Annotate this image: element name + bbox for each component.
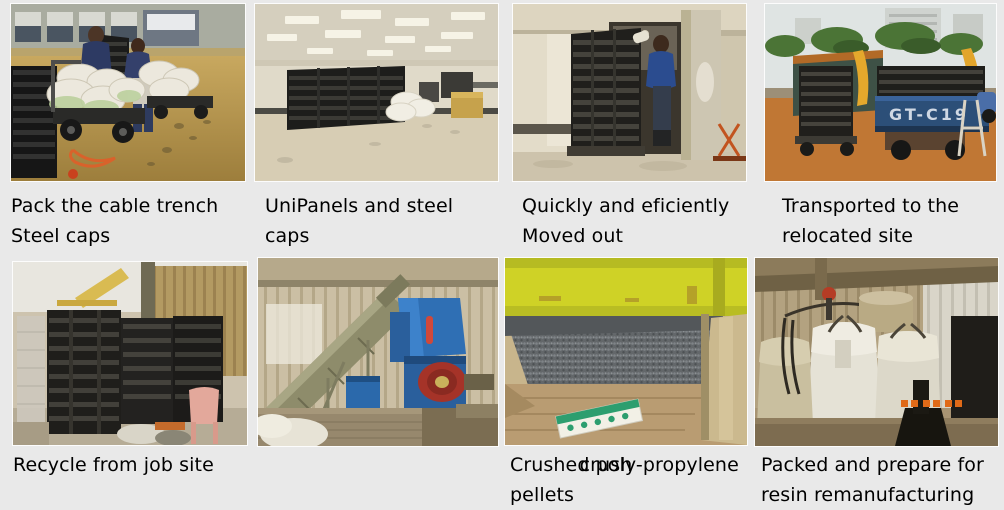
- photo-packed-resin[interactable]: [755, 258, 998, 446]
- packed-resin-illustration: [755, 258, 998, 446]
- caption-pack-cable-trench: Pack the cable trench Steel caps: [11, 191, 249, 251]
- photo-transported[interactable]: GT-C19: [765, 4, 996, 181]
- photo-crush[interactable]: [258, 258, 498, 446]
- storyboard-cell-6[interactable]: crush: [251, 252, 502, 505]
- crushed-pellets-illustration: [505, 258, 747, 445]
- photo-moved-out[interactable]: [513, 4, 746, 181]
- storyboard-cell-4[interactable]: GT-C19 Transported to the relocated site: [753, 0, 1004, 252]
- storyboard-cell-1[interactable]: Pack the cable trench Steel caps: [0, 0, 251, 252]
- photo-crushed-pellets[interactable]: [505, 258, 747, 445]
- transported-illustration: GT-C19: [765, 4, 996, 181]
- svg-text:GT-C19: GT-C19: [889, 105, 969, 124]
- photo-recycle-job-site[interactable]: [13, 262, 247, 445]
- photo-unipanels-packed[interactable]: [255, 4, 498, 181]
- storyboard-cell-8[interactable]: Packed and prepare for resin remanufactu…: [753, 252, 1004, 505]
- unipanels-packed-illustration: [255, 4, 498, 181]
- moved-out-illustration: [513, 4, 746, 181]
- caption-moved-out: Quickly and eficiently Moved out: [522, 191, 760, 251]
- photo-storyboard: Pack the cable trench Steel caps: [0, 0, 1004, 505]
- caption-recycle-job-site: Recycle from job site: [13, 450, 251, 480]
- storyboard-cell-3[interactable]: Quickly and eficiently Moved out: [502, 0, 753, 252]
- caption-transported: Transported to the relocated site: [782, 191, 1004, 251]
- storyboard-cell-7[interactable]: Crushed poly-propylene pellets: [502, 252, 753, 505]
- storyboard-cell-5[interactable]: Recycle from job site: [0, 252, 251, 505]
- storyboard-cell-2[interactable]: UniPanels and steel caps Were packed: [251, 0, 502, 252]
- recycle-job-site-illustration: [13, 262, 247, 445]
- caption-packed-resin: Packed and prepare for resin remanufactu…: [761, 450, 1003, 510]
- pack-cable-trench-illustration: [11, 4, 245, 181]
- crush-illustration: [258, 258, 498, 446]
- photo-pack-cable-trench[interactable]: [11, 4, 245, 181]
- caption-crushed-pellets: Crushed poly-propylene pellets: [510, 450, 750, 510]
